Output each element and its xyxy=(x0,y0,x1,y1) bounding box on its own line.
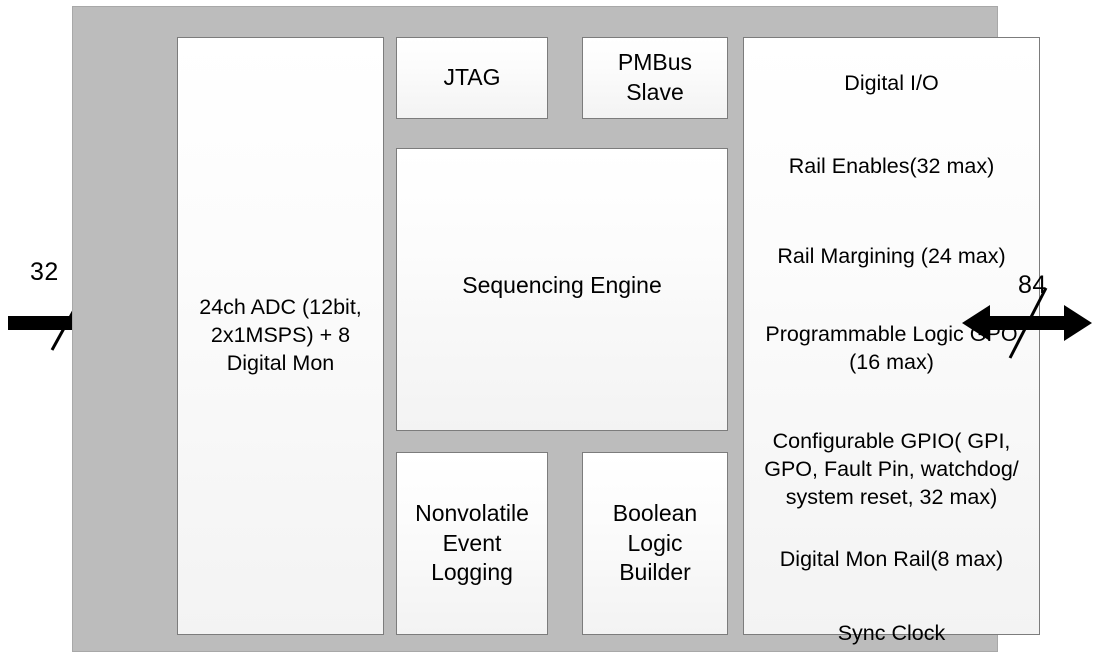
pmbus-slave-block: PMBus Slave xyxy=(582,37,728,119)
nonvolatile-event-logging-block-label: Nonvolatile Event Logging xyxy=(397,499,547,589)
nonvolatile-event-logging-block: Nonvolatile Event Logging xyxy=(396,452,548,635)
digital-io-row-rail-enables: Rail Enables(32 max) xyxy=(744,153,1039,181)
adc-block: 24ch ADC (12bit, 2x1MSPS) + 8 Digital Mo… xyxy=(177,37,384,635)
adc-block-label: 24ch ADC (12bit, 2x1MSPS) + 8 Digital Mo… xyxy=(178,294,383,378)
pmbus-slave-block-label: PMBus Slave xyxy=(583,48,727,108)
diagram-canvas: 32 24ch ADC (12bit, 2x1MSPS) + 8 Digital… xyxy=(0,0,1100,665)
boolean-logic-builder-block: Boolean Logic Builder xyxy=(582,452,728,635)
digital-io-row-configurable-gpio: Configurable GPIO( GPI, GPO, Fault Pin, … xyxy=(744,428,1039,512)
digital-io-row-sync-clock: Sync Clock xyxy=(744,620,1039,648)
jtag-block-label: JTAG xyxy=(397,63,547,93)
chip-outline: 24ch ADC (12bit, 2x1MSPS) + 8 Digital Mo… xyxy=(72,6,998,652)
boolean-logic-builder-block-label: Boolean Logic Builder xyxy=(583,499,727,589)
io-bus-arrow xyxy=(962,258,1092,388)
jtag-block: JTAG xyxy=(396,37,548,119)
sequencing-engine-block: Sequencing Engine xyxy=(396,148,728,431)
digital-io-row-digital-mon-rail: Digital Mon Rail(8 max) xyxy=(744,546,1039,574)
digital-io-heading: Digital I/O xyxy=(744,70,1039,98)
sequencing-engine-block-label: Sequencing Engine xyxy=(397,271,727,301)
